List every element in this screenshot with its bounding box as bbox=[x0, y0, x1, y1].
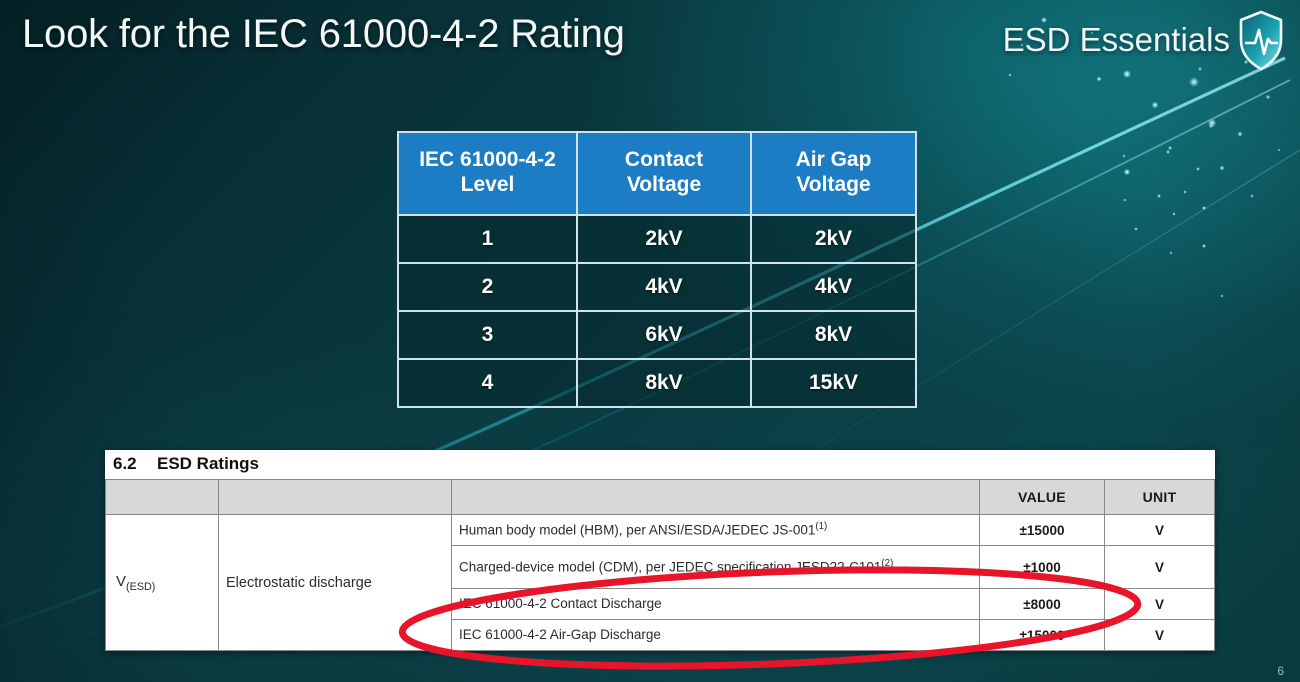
cell-airgap: 8kV bbox=[751, 311, 916, 359]
slide: Look for the IEC 61000-4-2 Rating ESD Es… bbox=[0, 0, 1300, 682]
cell-description: IEC 61000-4-2 Air-Gap Discharge bbox=[452, 620, 980, 651]
cell-symbol: V(ESD) bbox=[106, 515, 219, 651]
cell-description: Human body model (HBM), per ANSI/ESDA/JE… bbox=[452, 515, 980, 546]
header-blank-description bbox=[452, 480, 980, 515]
cell-parameter: Electrostatic discharge bbox=[219, 515, 452, 651]
cell-airgap: 15kV bbox=[751, 359, 916, 407]
cell-description: Charged-device model (CDM), per JEDEC sp… bbox=[452, 546, 980, 589]
table-row: 1 2kV 2kV bbox=[398, 215, 916, 263]
table-row: 2 4kV 4kV bbox=[398, 263, 916, 311]
cell-airgap: 4kV bbox=[751, 263, 916, 311]
brand-name: ESD Essentials bbox=[1003, 21, 1230, 59]
column-header-contact-line2: Voltage bbox=[627, 173, 701, 196]
cell-contact: 4kV bbox=[577, 263, 751, 311]
page-number: 6 bbox=[1277, 664, 1284, 678]
column-header-airgap-line1: Air Gap bbox=[796, 148, 872, 171]
header-blank-symbol bbox=[106, 480, 219, 515]
column-header-contact-voltage: Contact Voltage bbox=[577, 132, 751, 215]
description-text: Human body model (HBM), per ANSI/ESDA/JE… bbox=[459, 522, 815, 537]
cell-level: 4 bbox=[398, 359, 577, 407]
column-header-value: VALUE bbox=[980, 480, 1105, 515]
header-blank-parameter bbox=[219, 480, 452, 515]
brand: ESD Essentials bbox=[1003, 8, 1284, 72]
column-header-level: IEC 61000-4-2 Level bbox=[398, 132, 577, 215]
cell-contact: 2kV bbox=[577, 215, 751, 263]
cell-contact: 6kV bbox=[577, 311, 751, 359]
cell-level: 1 bbox=[398, 215, 577, 263]
cell-unit: V bbox=[1105, 546, 1215, 589]
column-header-unit: UNIT bbox=[1105, 480, 1215, 515]
cell-unit: V bbox=[1105, 515, 1215, 546]
esd-ratings-table: VALUE UNIT V(ESD) Electrostatic discharg… bbox=[105, 479, 1215, 651]
footnote-marker: (1) bbox=[815, 521, 827, 532]
cell-value: ±15000 bbox=[980, 620, 1105, 651]
column-header-contact-line1: Contact bbox=[625, 148, 703, 171]
cell-level: 2 bbox=[398, 263, 577, 311]
section-number: 6.2 bbox=[113, 454, 139, 474]
page-title: Look for the IEC 61000-4-2 Rating bbox=[22, 12, 625, 57]
table-header-row: IEC 61000-4-2 Level Contact Voltage Air … bbox=[398, 132, 916, 215]
cell-contact: 8kV bbox=[577, 359, 751, 407]
cell-value: ±1000 bbox=[980, 546, 1105, 589]
footnote-marker: (2) bbox=[881, 558, 893, 569]
table-row: 4 8kV 15kV bbox=[398, 359, 916, 407]
cell-level: 3 bbox=[398, 311, 577, 359]
table-row: V(ESD) Electrostatic discharge Human bod… bbox=[106, 515, 1215, 546]
cell-airgap: 2kV bbox=[751, 215, 916, 263]
column-header-airgap-line2: Voltage bbox=[796, 173, 870, 196]
table-header-row: VALUE UNIT bbox=[106, 480, 1215, 515]
cell-value: ±15000 bbox=[980, 515, 1105, 546]
iec-level-table: IEC 61000-4-2 Level Contact Voltage Air … bbox=[397, 131, 917, 408]
cell-unit: V bbox=[1105, 620, 1215, 651]
column-header-level-line2: Level bbox=[461, 173, 515, 196]
shield-pulse-icon bbox=[1238, 10, 1284, 72]
datasheet-section-heading: 6.2 ESD Ratings bbox=[105, 450, 1215, 479]
symbol-subscript: (ESD) bbox=[126, 581, 155, 593]
column-header-level-line1: IEC 61000-4-2 bbox=[419, 148, 556, 171]
cell-unit: V bbox=[1105, 589, 1215, 620]
cell-description: IEC 61000-4-2 Contact Discharge bbox=[452, 589, 980, 620]
description-text: Charged-device model (CDM), per JEDEC sp… bbox=[459, 559, 881, 574]
datasheet-excerpt: 6.2 ESD Ratings VALUE UNIT V(ESD) Electr… bbox=[105, 450, 1215, 651]
symbol-text: V bbox=[116, 573, 126, 590]
section-title: ESD Ratings bbox=[157, 454, 259, 474]
table-row: 3 6kV 8kV bbox=[398, 311, 916, 359]
cell-value: ±8000 bbox=[980, 589, 1105, 620]
column-header-airgap-voltage: Air Gap Voltage bbox=[751, 132, 916, 215]
